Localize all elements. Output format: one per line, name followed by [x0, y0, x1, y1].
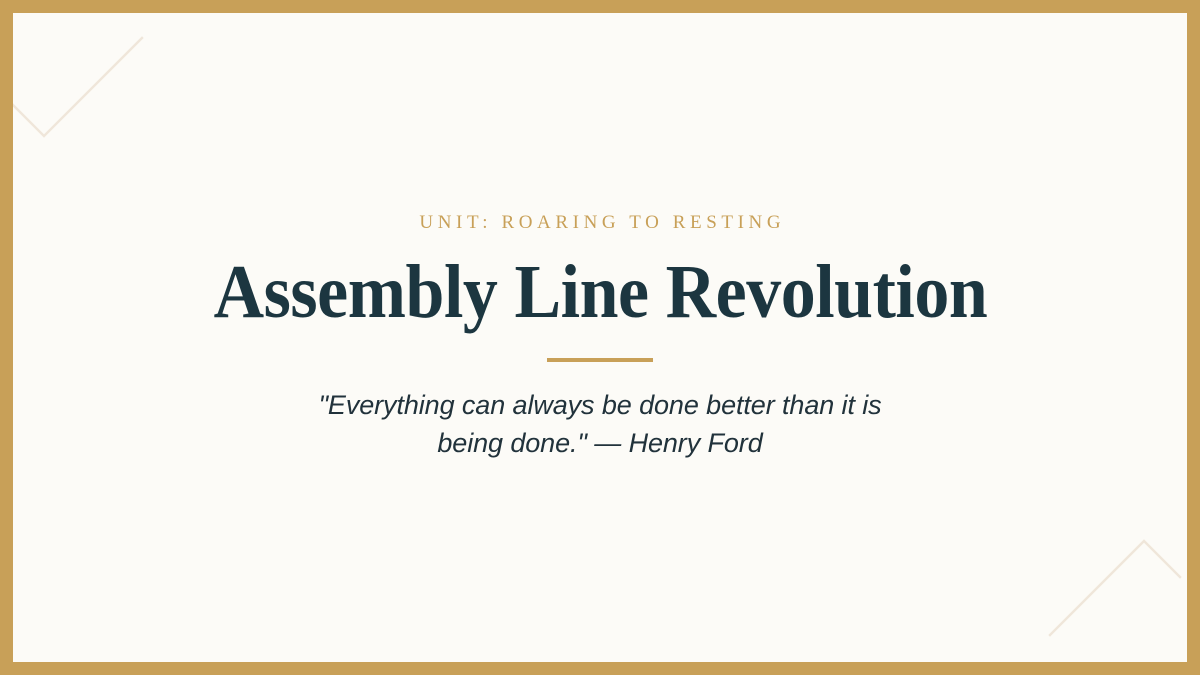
- gold-divider: [547, 358, 653, 362]
- slide-canvas: UNIT: ROARING TO RESTING Assembly Line R…: [13, 13, 1187, 662]
- unit-eyebrow-label: UNIT: ROARING TO RESTING: [415, 212, 785, 235]
- slide-quote: "Everything can always be done better th…: [300, 386, 900, 463]
- presentation-slide: UNIT: ROARING TO RESTING Assembly Line R…: [0, 0, 1200, 675]
- slide-content: UNIT: ROARING TO RESTING Assembly Line R…: [13, 13, 1187, 662]
- slide-title: Assembly Line Revolution: [213, 253, 987, 332]
